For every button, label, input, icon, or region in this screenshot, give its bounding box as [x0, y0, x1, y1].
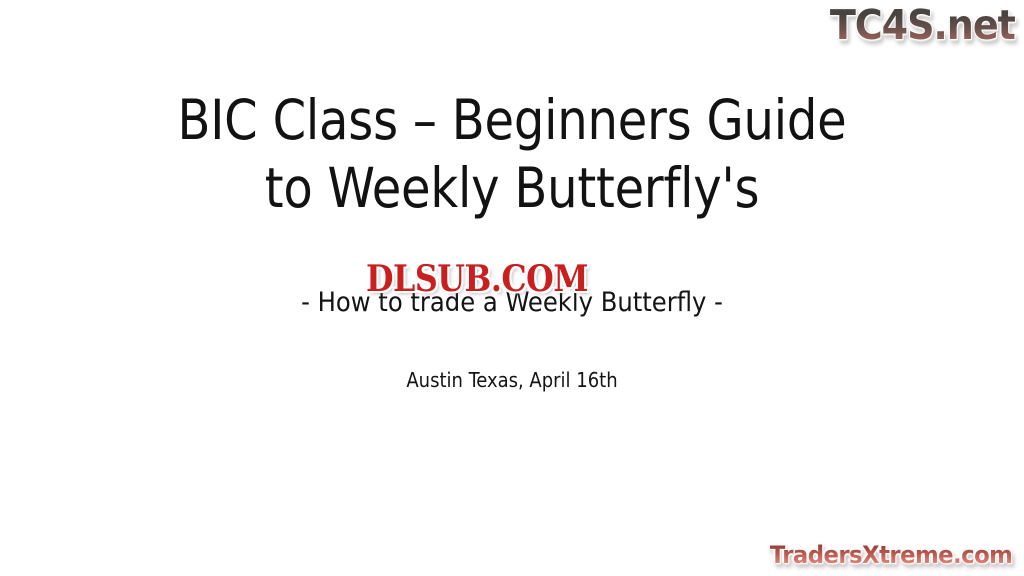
slide-venue: Austin Texas, April 16th: [0, 367, 1024, 393]
tc4s-brand-logo: TC4S.net: [830, 2, 1015, 48]
slide-venue-text: Austin Texas, April 16th: [0, 367, 1024, 393]
slide-title-line-1: BIC Class – Beginners Guide: [15, 86, 1008, 154]
slide-title-line-2: to Weekly Butterfly's: [15, 154, 1008, 222]
slide-title: BIC Class – Beginners Guide to Weekly Bu…: [0, 86, 1024, 222]
tradersxtreme-watermark: TradersXtreme.com: [769, 541, 1012, 569]
dlsub-watermark: DLSUB.COM: [366, 259, 588, 299]
presentation-slide: TC4S.net BIC Class – Beginners Guide to …: [0, 0, 1024, 576]
